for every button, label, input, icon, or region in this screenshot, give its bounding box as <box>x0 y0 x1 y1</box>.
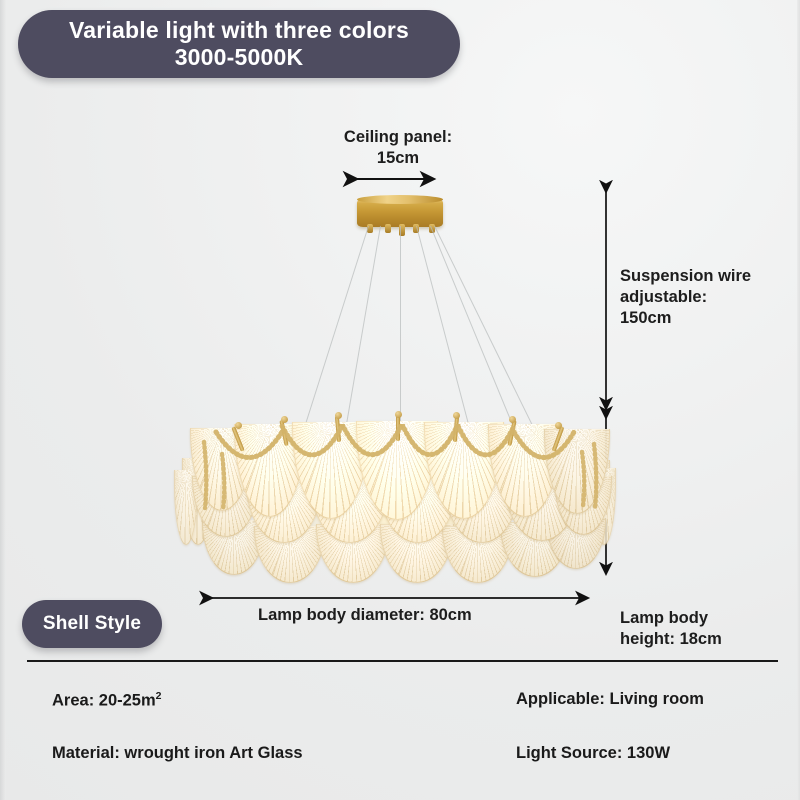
style-badge: Shell Style <box>22 600 162 648</box>
lamp-body-diameter-label: Lamp body diameter: 80cm <box>258 605 472 626</box>
gold-arm-tip <box>335 412 342 419</box>
bead-swag <box>216 432 282 458</box>
bead-swag-group <box>196 424 604 576</box>
suspension-wire <box>434 226 546 452</box>
bead-swag <box>514 432 574 458</box>
suspension-wire <box>300 226 369 440</box>
product-spec-image: Variable light with three colors 3000-50… <box>0 0 800 800</box>
gold-arm-tip <box>509 416 516 423</box>
spec-area: Area: 20-25m2 <box>52 690 161 711</box>
ceiling-panel-label: Ceiling panel: 15cm <box>328 127 468 169</box>
spec-area-text: Area: 20-25m <box>52 692 156 710</box>
bead-strand <box>204 442 206 508</box>
spec-applicable: Applicable: Living room <box>516 690 704 709</box>
spec-divider <box>27 660 778 662</box>
lamp-body <box>196 424 604 576</box>
suspension-wire <box>400 226 401 424</box>
suspension-wire-label: Suspension wire adjustable: 150cm <box>620 266 785 329</box>
lamp-body-height-label: Lamp body height: 18cm <box>620 608 780 650</box>
gold-arm-tip <box>281 416 288 423</box>
bead-swag <box>458 426 514 455</box>
title-badge: Variable light with three colors 3000-50… <box>18 10 460 78</box>
spec-area-superscript: 2 <box>156 690 162 702</box>
bead-swag <box>402 424 458 455</box>
gold-arm-tip <box>453 412 460 419</box>
bead-strand <box>594 444 596 508</box>
bead-swag <box>282 426 342 455</box>
suspension-wire <box>345 226 381 430</box>
spec-material: Material: wrought iron Art Glass <box>52 744 303 763</box>
ceiling-canopy <box>357 199 443 227</box>
title-badge-line1: Variable light with three colors <box>69 17 409 44</box>
title-badge-line2: 3000-5000K <box>69 44 409 71</box>
chandelier-illustration <box>0 0 800 800</box>
bead-swag <box>342 424 402 455</box>
bead-strand <box>582 452 584 506</box>
spec-light-source: Light Source: 130W <box>516 744 670 763</box>
gold-arm-tip <box>395 411 402 418</box>
bead-strand <box>222 454 224 510</box>
